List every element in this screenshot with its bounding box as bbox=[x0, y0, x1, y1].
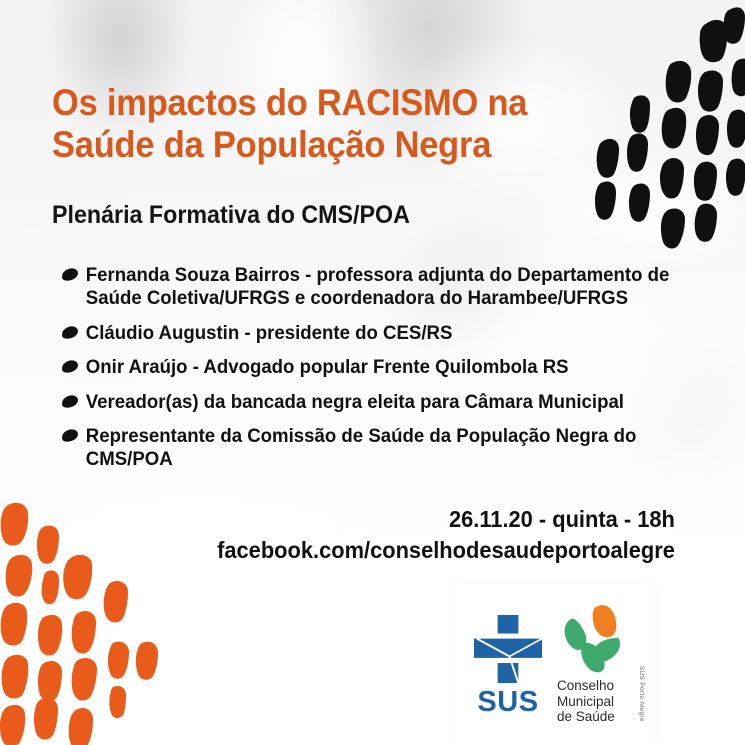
list-item: Cláudio Augustin - presidente do CES/RS bbox=[60, 322, 671, 345]
event-date: 26.11.20 - quinta - 18h bbox=[217, 505, 675, 534]
poster-canvas: Os impactos do RACISMO na Saúde da Popul… bbox=[0, 0, 745, 745]
cms-logo: Conselho Municipal de Saúde SUS Porto Al… bbox=[551, 603, 647, 726]
cms-line-1: Conselho bbox=[557, 678, 647, 694]
sus-logo: SUS bbox=[463, 612, 553, 717]
brush-bullet-icon bbox=[60, 326, 78, 339]
logo-panel: SUS Conselho Municipal de Saúde SUS Port… bbox=[453, 583, 655, 745]
speaker-name: Fernanda Souza Bairros - professora adju… bbox=[86, 264, 670, 309]
brush-bullet-icon bbox=[60, 360, 78, 373]
cms-vertical-label: SUS Porto Alegre bbox=[638, 666, 645, 722]
speaker-list: Fernanda Souza Bairros - professora adju… bbox=[60, 264, 700, 483]
cms-pinwheel-icon bbox=[557, 603, 627, 673]
list-item: Representante da Comissão de Saúde da Po… bbox=[60, 425, 671, 472]
event-facebook-link[interactable]: facebook.com/conselhodesaudeportoalegre bbox=[217, 536, 675, 565]
list-item: Onir Araújo - Advogado popular Frente Qu… bbox=[60, 356, 671, 379]
list-item: Fernanda Souza Bairros - professora adju… bbox=[60, 264, 671, 311]
list-item: Vereador(as) da bancada negra eleita par… bbox=[60, 391, 671, 414]
cms-line-2: Municipal bbox=[557, 694, 647, 710]
sus-cross-icon bbox=[471, 612, 545, 686]
poster-subtitle: Plenária Formativa do CMS/POA bbox=[52, 201, 410, 230]
cms-line-3: de Saúde bbox=[557, 709, 647, 725]
speaker-name: Representante da Comissão de Saúde da Po… bbox=[86, 425, 637, 470]
poster-content: Os impactos do RACISMO na Saúde da Popul… bbox=[0, 0, 745, 745]
speaker-name: Vereador(as) da bancada negra eleita par… bbox=[86, 391, 624, 413]
brush-bullet-icon bbox=[60, 395, 78, 408]
speaker-name: Onir Araújo - Advogado popular Frente Qu… bbox=[86, 356, 569, 378]
cms-wordmark: Conselho Municipal de Saúde bbox=[557, 678, 647, 726]
sus-wordmark: SUS bbox=[463, 688, 553, 717]
poster-title: Os impactos do RACISMO na Saúde da Popul… bbox=[52, 82, 592, 166]
brush-bullet-icon bbox=[60, 429, 78, 442]
speaker-name: Cláudio Augustin - presidente do CES/RS bbox=[86, 322, 453, 344]
event-details: 26.11.20 - quinta - 18h facebook.com/con… bbox=[193, 505, 675, 565]
title-line-1: Os impactos do RACISMO na bbox=[52, 82, 554, 124]
brush-bullet-icon bbox=[60, 268, 78, 281]
title-line-2: Saúde da População Negra bbox=[52, 124, 554, 166]
